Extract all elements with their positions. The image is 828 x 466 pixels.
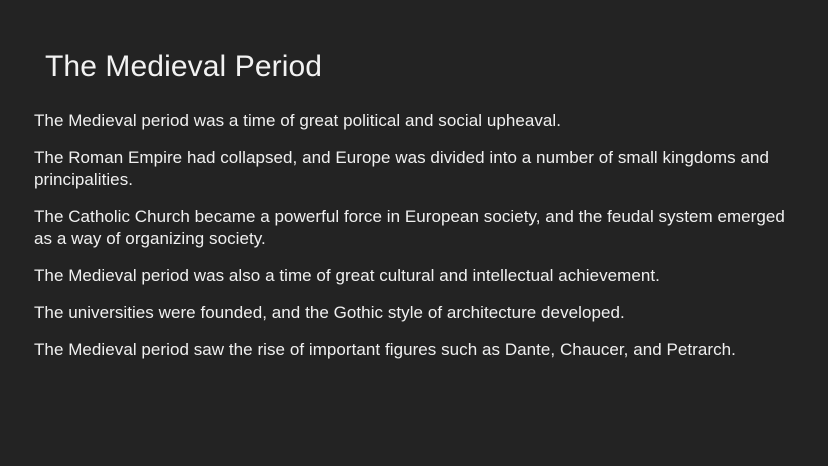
body-paragraph: The Medieval period was also a time of g… [34,265,792,287]
body-paragraph: The universities were founded, and the G… [34,302,792,324]
body-paragraph: The Medieval period saw the rise of impo… [34,339,792,361]
body-paragraph: The Catholic Church became a powerful fo… [34,206,792,250]
page-title: The Medieval Period [45,48,785,86]
body-paragraph: The Medieval period was a time of great … [34,110,792,132]
presentation-slide: The Medieval Period The Medieval period … [0,0,828,466]
slide-body: The Medieval period was a time of great … [34,110,792,361]
body-paragraph: The Roman Empire had collapsed, and Euro… [34,147,792,191]
